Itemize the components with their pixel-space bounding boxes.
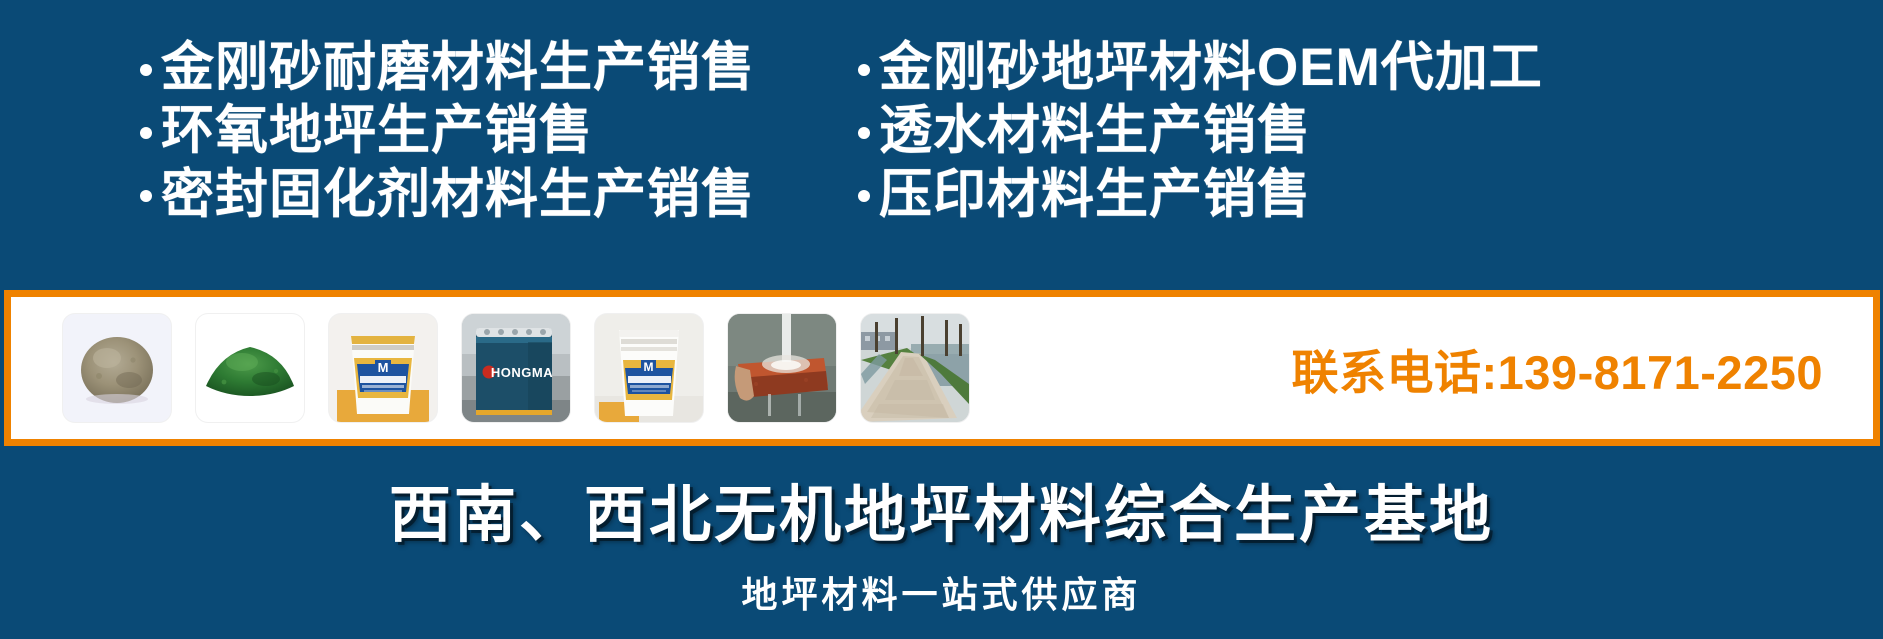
sub-headline: 地坪材料一站式供应商 [741, 566, 1141, 618]
footer-headline-block: 西南、西北无机地坪材料综合生产基地 地坪材料一站式供应商 [0, 446, 1883, 639]
product-thumb-permeable-concrete-water-test [728, 314, 836, 422]
bullet-label: 金刚砂地坪材料OEM代加工 [879, 38, 1543, 97]
bullet-item: 金刚砂地坪材料OEM代加工 [858, 38, 1618, 97]
bullet-dot-icon [140, 127, 152, 139]
product-thumb-concrete-seal-curing-agent-bucket: M [329, 314, 437, 422]
bullet-item: 环氧地坪生产销售 [140, 101, 840, 160]
bullet-item: 金刚砂耐磨材料生产销售 [140, 38, 840, 97]
bullet-label: 金刚砂耐磨材料生产销售 [161, 38, 755, 97]
bullet-label: 透水材料生产销售 [879, 101, 1311, 160]
product-thumb-modified-epoxy-floor-coating-bucket: M [595, 314, 703, 422]
bullet-dot-icon [858, 64, 870, 76]
bullet-label: 环氧地坪生产销售 [161, 101, 593, 160]
product-strip: M [4, 290, 1880, 446]
bullet-item: 压印材料生产销售 [858, 165, 1618, 224]
svg-text:HONGMA: HONGMA [491, 365, 553, 380]
bullet-label: 密封固化剂材料生产销售 [161, 165, 755, 224]
contact-phone[interactable]: 联系电话:139-8171-2250 [1292, 334, 1824, 403]
product-thumbnail-list: M [63, 314, 969, 422]
product-thumb-hongma-blue-drum: HONGMA [462, 314, 570, 422]
svg-text:M: M [644, 360, 654, 374]
service-bullets: 金刚砂耐磨材料生产销售 环氧地坪生产销售 密封固化剂材料生产销售 金刚砂地坪材料… [0, 0, 1883, 245]
bullet-label: 压印材料生产销售 [879, 165, 1311, 224]
service-bullets-left-column: 金刚砂耐磨材料生产销售 环氧地坪生产销售 密封固化剂材料生产销售 [140, 38, 840, 224]
bullet-dot-icon [858, 127, 870, 139]
product-thumb-grey-wear-resistant-powder [63, 314, 171, 422]
product-thumb-green-wear-resistant-powder [196, 314, 304, 422]
bullet-dot-icon [858, 190, 870, 202]
product-thumb-stamped-concrete-walkway [861, 314, 969, 422]
bullet-item: 透水材料生产销售 [858, 101, 1618, 160]
bullet-item: 密封固化剂材料生产销售 [140, 165, 840, 224]
bullet-dot-icon [140, 64, 152, 76]
main-headline: 西南、西北无机地坪材料综合生产基地 [389, 464, 1494, 554]
service-bullets-right-column: 金刚砂地坪材料OEM代加工 透水材料生产销售 压印材料生产销售 [858, 38, 1618, 224]
bullet-dot-icon [140, 190, 152, 202]
svg-text:M: M [378, 360, 389, 375]
promo-banner: 金刚砂耐磨材料生产销售 环氧地坪生产销售 密封固化剂材料生产销售 金刚砂地坪材料… [0, 0, 1883, 639]
